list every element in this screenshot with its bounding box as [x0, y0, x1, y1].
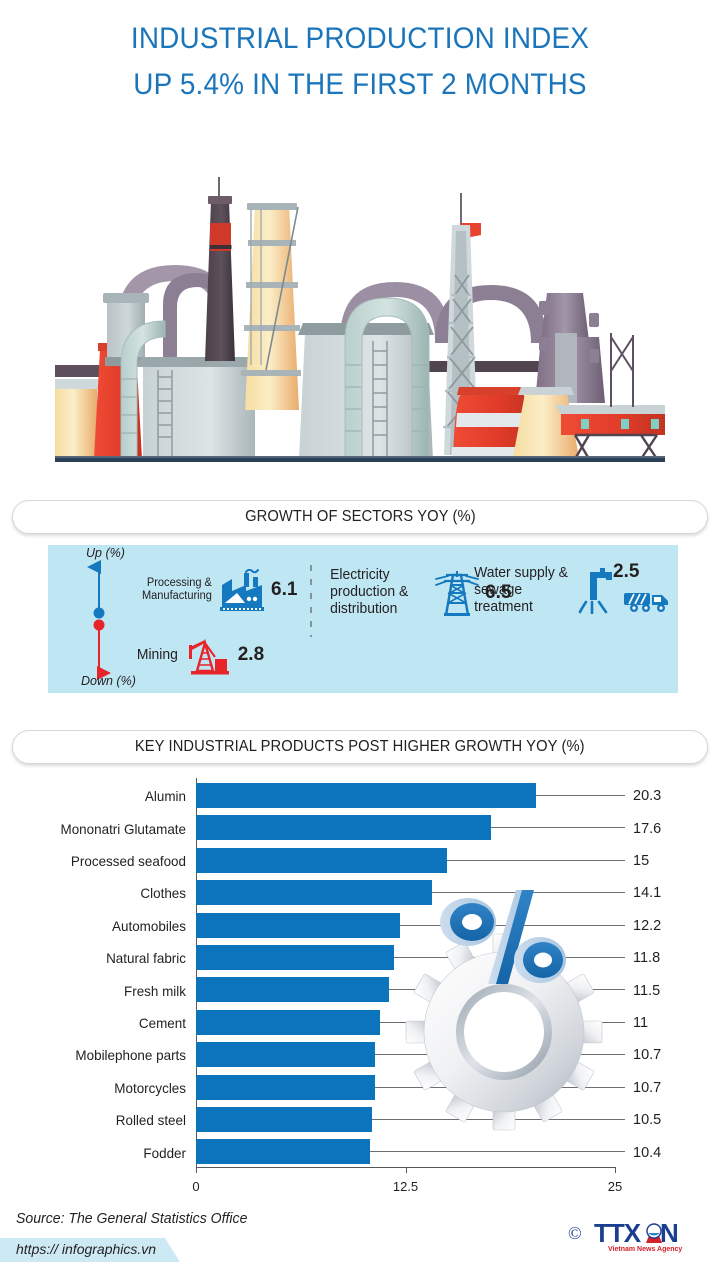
logo-tagline: Vietnam News Agency	[608, 1246, 682, 1253]
sewage-truck-icon	[622, 585, 672, 615]
svg-text:TTX: TTX	[594, 1218, 642, 1248]
chart-value-label: 10.7	[633, 1047, 661, 1063]
chart-category-label: Natural fabric	[7, 950, 186, 966]
sector-value-water-supply: 2.5	[613, 561, 639, 583]
chart-bar	[196, 913, 400, 938]
vertical-dotted-divider	[310, 565, 312, 637]
sector-label-mining: Mining	[137, 647, 178, 664]
copyright-symbol: ©	[568, 1223, 582, 1243]
chart-row: Clothes14.1	[0, 877, 720, 909]
chart-value-label: 10.7	[633, 1080, 661, 1096]
chart-bar	[196, 1010, 380, 1035]
chart-leader-line	[536, 795, 625, 796]
page-title-line-2: UP 5.4% IN THE FIRST 2 MONTHS	[25, 62, 695, 108]
source-credit: Source: The General Statistics Office	[16, 1211, 247, 1227]
sector-value-mining: 2.8	[238, 644, 264, 666]
sectors-panel: Up (%) Down (%) Processing & Manufacturi…	[48, 545, 678, 693]
chart-bar	[196, 880, 432, 905]
factory-icon	[216, 569, 266, 611]
chart-category-label: Cement	[7, 1015, 186, 1031]
chart-value-label: 10.5	[633, 1112, 661, 1128]
chart-value-label: 11	[633, 1015, 648, 1031]
chart-leader-line	[432, 892, 625, 893]
chart-leader-line	[491, 827, 625, 828]
chart-category-label: Motorcycles	[7, 1080, 186, 1096]
sectors-section-header: GROWTH OF SECTORS YOY (%)	[12, 500, 708, 534]
chart-category-label: Mononatri Glutamate	[7, 821, 186, 837]
chart-value-label: 10.4	[633, 1145, 661, 1161]
chart-category-label: Fodder	[7, 1145, 186, 1161]
chart-value-label: 17.6	[633, 821, 661, 837]
axis-down-label: Down (%)	[81, 674, 136, 688]
chart-x-tick-label: 12.5	[393, 1179, 418, 1194]
chart-bar	[196, 848, 447, 873]
chart-row: Cement11	[0, 1007, 720, 1039]
products-section-header: KEY INDUSTRIAL PRODUCTS POST HIGHER GROW…	[12, 730, 708, 764]
oil-pump-icon	[185, 635, 233, 675]
chart-row: Rolled steel10.5	[0, 1104, 720, 1136]
chart-row: Mobilephone parts10.7	[0, 1039, 720, 1071]
chart-x-tick	[615, 1167, 616, 1173]
sectors-section-title: GROWTH OF SECTORS YOY (%)	[245, 508, 476, 526]
chart-leader-line	[394, 957, 625, 958]
chart-row: Fodder10.4	[0, 1136, 720, 1168]
chart-category-label: Clothes	[7, 885, 186, 901]
chart-x-tick-label: 0	[192, 1179, 199, 1194]
chart-bar	[196, 815, 491, 840]
chart-value-label: 11.8	[633, 950, 660, 966]
industrial-factory-illustration	[55, 165, 665, 465]
faucet-icon	[578, 568, 618, 614]
chart-x-tick	[406, 1167, 407, 1173]
chart-leader-line	[372, 1119, 625, 1120]
chart-bar	[196, 977, 389, 1002]
sector-label-water-supply: Water supply & sewage treatment	[474, 565, 574, 616]
chart-value-label: 20.3	[633, 788, 661, 804]
page-title: INDUSTRIAL PRODUCTION INDEX UP 5.4% IN T…	[0, 16, 720, 108]
sector-value-processing-manufacturing: 6.1	[271, 579, 297, 601]
chart-category-label: Automobiles	[7, 918, 186, 934]
chart-bar	[196, 1075, 375, 1100]
chart-value-label: 14.1	[633, 885, 661, 901]
chart-row: Motorcycles10.7	[0, 1072, 720, 1104]
key-products-bar-chart: Alumin20.3Mononatri Glutamate17.6Process…	[0, 772, 720, 1192]
chart-leader-line	[375, 1054, 625, 1055]
chart-row: Fresh milk11.5	[0, 974, 720, 1006]
chart-bar	[196, 945, 394, 970]
chart-row: Automobiles12.2	[0, 910, 720, 942]
chart-bar	[196, 783, 536, 808]
chart-value-label: 12.2	[633, 918, 661, 934]
chart-leader-line	[370, 1151, 625, 1152]
svg-text:N: N	[660, 1218, 678, 1248]
chart-x-tick-label: 25	[608, 1179, 622, 1194]
sector-label-processing-manufacturing: Processing & Manufacturing	[112, 577, 212, 603]
products-section-title: KEY INDUSTRIAL PRODUCTS POST HIGHER GROW…	[135, 738, 585, 756]
chart-x-tick	[196, 1167, 197, 1173]
chart-value-label: 11.5	[633, 983, 660, 999]
chart-bar	[196, 1042, 375, 1067]
chart-bar	[196, 1107, 372, 1132]
chart-category-label: Processed seafood	[7, 853, 186, 869]
chart-row: Processed seafood15	[0, 845, 720, 877]
chart-row: Natural fabric11.8	[0, 942, 720, 974]
chart-leader-line	[375, 1087, 625, 1088]
sector-item-mining: Mining 2.8	[136, 635, 264, 675]
sector-label-electricity: Electricity production & distribution	[330, 567, 430, 618]
chart-row: Alumin20.3	[0, 780, 720, 812]
chart-row: Mononatri Glutamate17.6	[0, 812, 720, 844]
chart-bar	[196, 1139, 370, 1164]
site-url[interactable]: https:// infographics.vn	[16, 1241, 156, 1257]
chart-leader-line	[400, 925, 625, 926]
axis-up-label: Up (%)	[86, 546, 125, 560]
chart-category-label: Alumin	[7, 788, 186, 804]
chart-leader-line	[380, 1022, 625, 1023]
ttxvn-logo: © TTX N Vietnam News Agency	[568, 1215, 713, 1253]
chart-leader-line	[389, 989, 625, 990]
chart-value-label: 15	[633, 853, 649, 869]
sector-item-water-supply: Water supply & sewage treatment 2.5	[472, 565, 674, 616]
chart-category-label: Fresh milk	[7, 983, 186, 999]
chart-category-label: Rolled steel	[7, 1112, 186, 1128]
sector-item-processing-manufacturing: Processing & Manufacturing 6.1	[110, 569, 297, 611]
chart-category-label: Mobilephone parts	[7, 1047, 186, 1063]
page-title-line-1: INDUSTRIAL PRODUCTION INDEX	[25, 16, 695, 62]
chart-leader-line	[447, 860, 625, 861]
